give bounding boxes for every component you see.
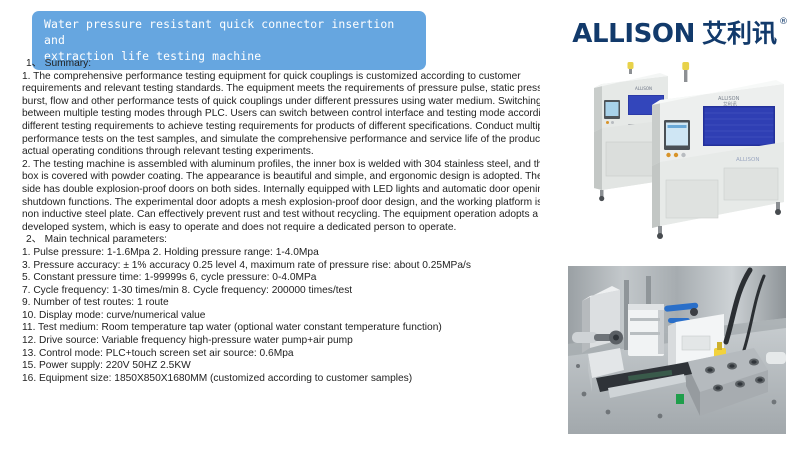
parameter-line: 9. Number of test routes: 1 route — [22, 297, 578, 310]
product-description: 1、 Summary: 1. The comprehensive perform… — [22, 58, 578, 385]
svg-text:ALLISON: ALLISON — [736, 157, 759, 163]
parameter-line: 11. Test medium: Room temperature tap wa… — [22, 322, 578, 335]
brand-logo: ALLISON 艾利讯 ® — [572, 20, 788, 48]
svg-text:ALLISON: ALLISON — [718, 96, 740, 102]
summary-paragraph-2: 2. The testing machine is assembled with… — [22, 159, 578, 235]
pneumatic-cylinder — [628, 304, 664, 356]
product-photo-machines: ALLISON — [540, 62, 792, 248]
svg-text:艾利讯: 艾利讯 — [723, 101, 737, 108]
summary-heading: 1、 Summary: — [22, 58, 578, 71]
parameter-line: 1. Pulse pressure: 1-1.6Mpa 2. Holding p… — [22, 247, 578, 260]
parameters-heading: 2、 Main technical parameters: — [22, 234, 578, 247]
parameter-line: 15. Power supply: 220V 50HZ 2.5KW — [22, 360, 578, 373]
parameter-line: 13. Control mode: PLC+touch screen set a… — [22, 348, 578, 361]
page-header: Water pressure resistant quick connector… — [0, 0, 800, 58]
parameter-line: 7. Cycle frequency: 1-30 times/min 8. Cy… — [22, 285, 578, 298]
registered-trademark-icon: ® — [779, 18, 788, 27]
parameter-line: 16. Equipment size: 1850X850X1680MM (cus… — [22, 373, 578, 386]
parameter-line: 5. Constant pressure time: 1-99999s 6, c… — [22, 272, 578, 285]
technical-parameter-list: 1. Pulse pressure: 1-1.6Mpa 2. Holding p… — [22, 247, 578, 386]
summary-paragraph-1: 1. The comprehensive performance testing… — [22, 71, 578, 159]
parameter-line: 10. Display mode: curve/numerical value — [22, 310, 578, 323]
parameter-line: 12. Drive source: Variable frequency hig… — [22, 335, 578, 348]
svg-text:ALLISON: ALLISON — [635, 86, 652, 91]
brand-name-latin: ALLISON — [572, 20, 695, 48]
parameter-line: 3. Pressure accuracy: ± 1% accuracy 0.25… — [22, 260, 578, 273]
brand-name-cjk: 艾利讯 — [702, 20, 777, 48]
product-photo-internals — [568, 266, 786, 434]
